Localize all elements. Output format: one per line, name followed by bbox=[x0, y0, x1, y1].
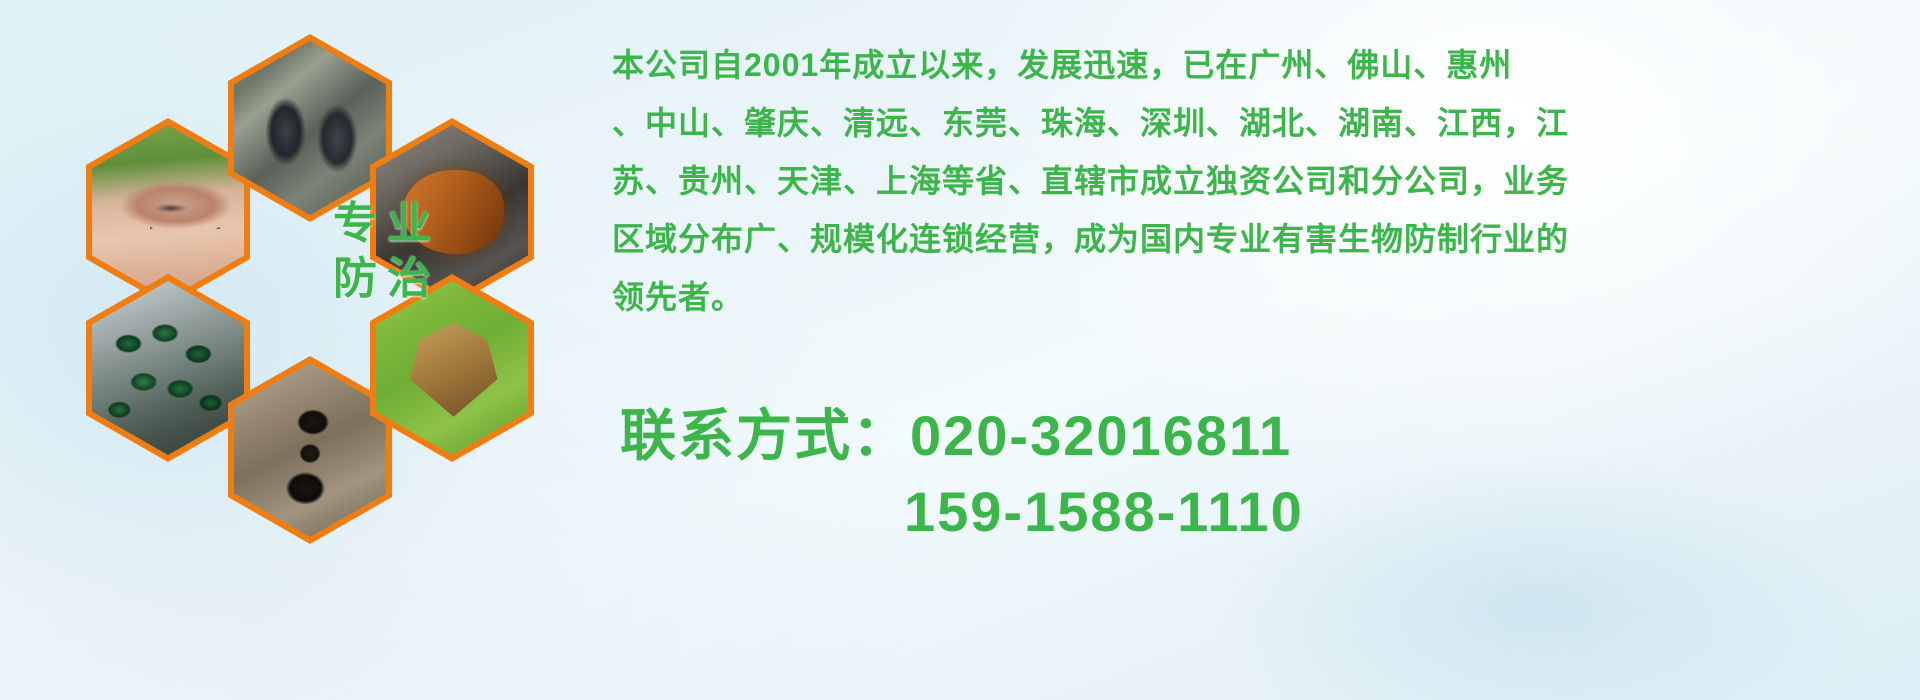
hex-tile-rats bbox=[228, 34, 392, 222]
intro-paragraph: 本公司自2001年成立以来，发展迅速，已在广州、佛山、惠州 、中山、肇庆、清远、… bbox=[612, 36, 1892, 326]
intro-line-3: 苏、贵州、天津、上海等省、直辖市成立独资公司和分公司，业务 bbox=[612, 152, 1892, 210]
contact-landline[interactable]: 联系方式：020-32016811 bbox=[620, 398, 1304, 474]
intro-line-2: 、中山、肇庆、清远、东莞、珠海、深圳、湖北、湖南、江西，江 bbox=[612, 94, 1892, 152]
promo-banner: 专业 防治 本公司自2001年成立以来，发展迅速，已在广州、佛山、惠州 、中山、… bbox=[0, 0, 1920, 700]
intro-line-4: 区域分布广、规模化连锁经营，成为国内专业有害生物防制行业的 bbox=[612, 210, 1892, 268]
ant-photo bbox=[234, 363, 386, 537]
hexagon-collage: 专业 防治 bbox=[86, 6, 586, 566]
collage-headline-line-1: 专业 bbox=[292, 196, 472, 251]
flies-photo bbox=[92, 281, 244, 455]
intro-line-1: 本公司自2001年成立以来，发展迅速，已在广州、佛山、惠州 bbox=[612, 36, 1892, 94]
collage-headline: 专业 防治 bbox=[292, 196, 472, 306]
shield-bug-photo bbox=[376, 281, 528, 455]
contact-mobile[interactable]: 159-1588-1110 bbox=[620, 474, 1304, 550]
collage-headline-line-2: 防治 bbox=[292, 251, 472, 306]
hex-tile-flies bbox=[86, 274, 250, 462]
hex-tile-ant bbox=[228, 356, 392, 544]
contact-block: 联系方式：020-32016811 159-1588-1110 bbox=[620, 398, 1304, 550]
rats-photo bbox=[234, 41, 386, 215]
mosquito-photo bbox=[92, 125, 244, 299]
intro-line-5: 领先者。 bbox=[612, 268, 1892, 326]
